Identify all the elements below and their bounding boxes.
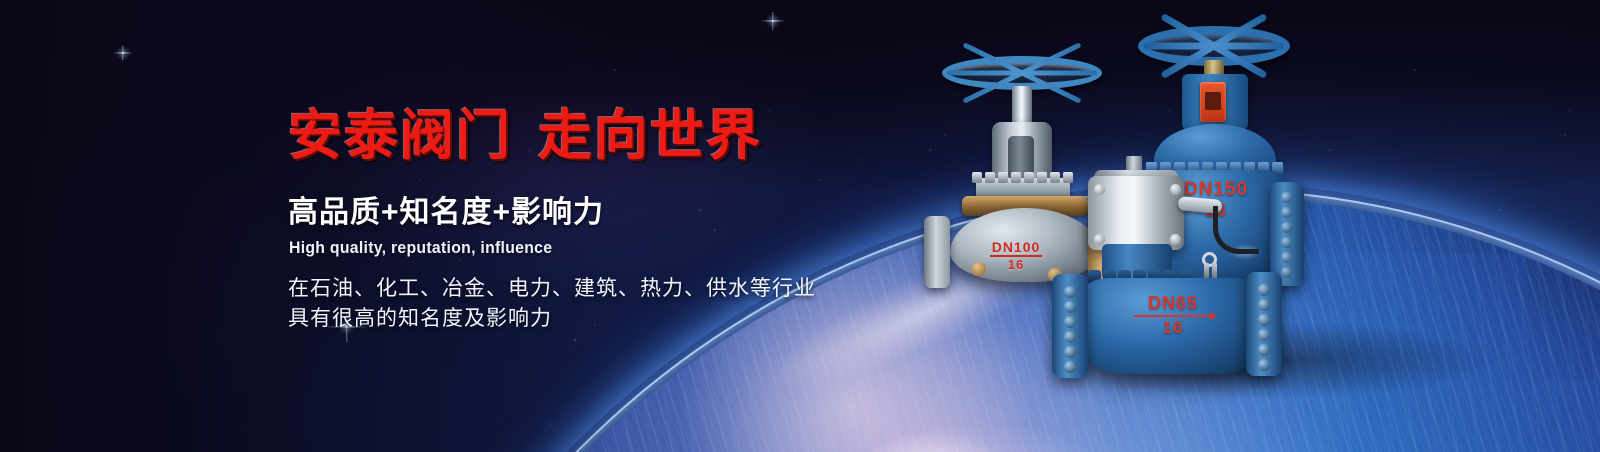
flange-bolt-hole xyxy=(1258,344,1270,356)
valve-flange-left xyxy=(924,216,950,288)
banner-subheadline-en: High quality, reputation, influence xyxy=(289,238,883,258)
valve-marking-dn100: DN100 16 xyxy=(976,240,1056,271)
bolt xyxy=(1024,172,1034,183)
flange-bolt-hole xyxy=(1064,361,1076,373)
headline-part-1: 安泰阀门 xyxy=(288,106,512,166)
flange-bolt-hole xyxy=(1258,314,1270,326)
valve-pressure-label: 16 xyxy=(1118,319,1228,337)
blue-handwheel-icon xyxy=(942,56,1102,90)
banner-headline: 安泰阀门走向世界 xyxy=(288,108,928,165)
flange-bolt-hole xyxy=(1258,329,1270,341)
key-blade xyxy=(1204,263,1209,279)
flow-direction-arrow-icon xyxy=(1134,315,1212,317)
flange-bolt-hole xyxy=(1258,284,1270,296)
keys-icon xyxy=(1200,252,1222,278)
key-blade xyxy=(1212,263,1217,279)
star-sparkle-icon xyxy=(122,52,124,54)
flange-bolt-hole xyxy=(1258,359,1270,371)
flange-bolt-hole xyxy=(1064,316,1076,328)
valve-marking-dn65: DN65 16 xyxy=(1118,294,1228,337)
bolt xyxy=(1037,172,1047,183)
actuator-bolt xyxy=(1170,184,1181,195)
bolt xyxy=(1011,172,1021,183)
flange-bolt-hole xyxy=(1064,286,1076,298)
flange-bolt-hole xyxy=(1064,301,1076,313)
bolt xyxy=(985,172,995,183)
company-hero-banner: 安泰阀门走向世界 高品质+知名度+影响力 High quality, reput… xyxy=(0,0,1600,452)
valve-pressure-label: 16 xyxy=(976,258,1056,271)
flange-bolt-hole xyxy=(1064,331,1076,343)
valve-size-label: DN65 xyxy=(1148,293,1198,313)
banner-subheadline-cn: 高品质+知名度+影响力 xyxy=(288,187,928,231)
body-line-2: 具有很高的知名度及影响力 xyxy=(288,304,928,334)
headline-part-2: 走向世界 xyxy=(538,106,762,166)
bolt xyxy=(972,172,982,183)
hydraulic-hose xyxy=(1213,206,1259,254)
valve-flange-right xyxy=(1246,272,1282,376)
body-line-1: 在石油、化工、冶金、电力、建筑、热力、供水等行业 xyxy=(288,274,928,304)
valve-flange-left xyxy=(1052,274,1088,378)
product-control-valve-blue[interactable]: DN65 16 xyxy=(1050,168,1380,398)
banner-body-text: 在石油、化工、冶金、电力、建筑、热力、供水等行业 具有很高的知名度及影响力 xyxy=(288,274,928,334)
valve-size-label: DN100 xyxy=(992,239,1041,255)
flange-bolt-hole xyxy=(1258,299,1270,311)
actuator-bolt xyxy=(1094,234,1105,245)
star-sparkle-icon xyxy=(772,20,774,22)
actuator-bolt xyxy=(1094,184,1105,195)
actuator-bolt xyxy=(1170,234,1181,245)
position-indicator-icon xyxy=(1200,82,1226,122)
flange-bolt-hole xyxy=(1064,346,1076,358)
bolt xyxy=(998,172,1008,183)
banner-copy-block: 安泰阀门走向世界 高品质+知名度+影响力 High quality, reput… xyxy=(288,108,928,333)
valve-product-group: DN150 16 DN100 16 xyxy=(920,0,1600,452)
valve-drain-boss xyxy=(972,262,986,276)
